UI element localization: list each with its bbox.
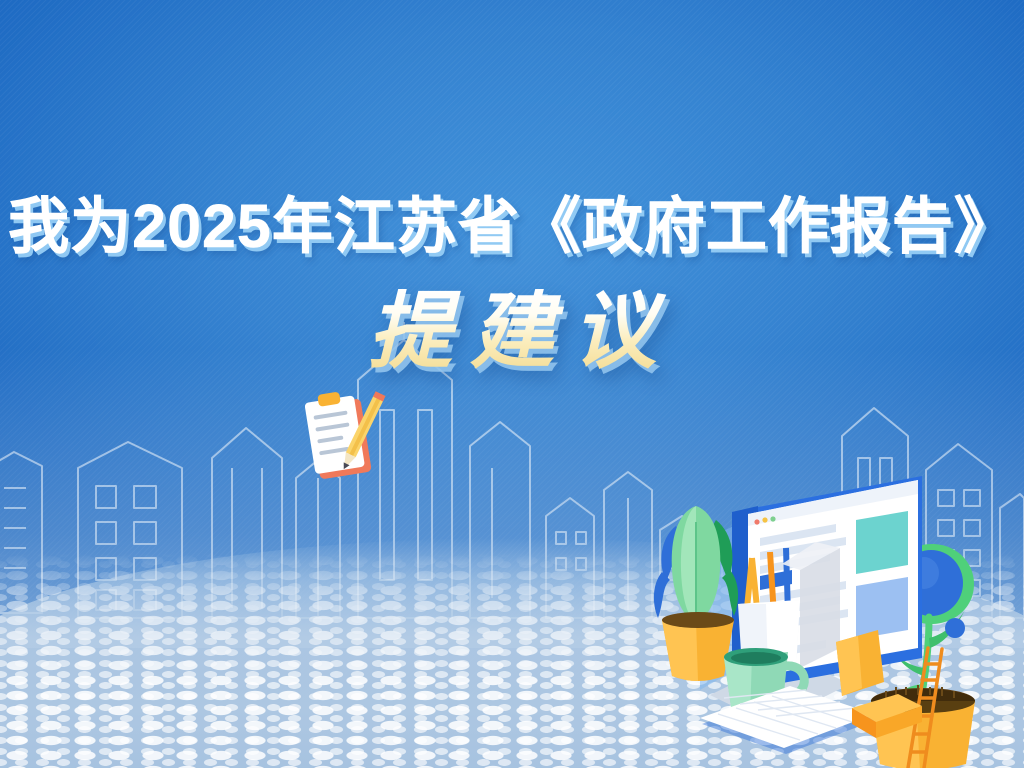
screen-image-blue bbox=[856, 577, 908, 639]
campaign-banner: 我为2025年江苏省《政府工作报告》 提建议 bbox=[0, 0, 1024, 768]
flower-bud bbox=[945, 618, 965, 638]
clipboard-pencil-icon bbox=[296, 385, 396, 487]
screen-image-teal bbox=[856, 511, 908, 574]
dot-green bbox=[770, 516, 775, 521]
plant-pot-left bbox=[662, 612, 734, 681]
banner-title-subtitle: 提建议 bbox=[350, 289, 674, 373]
banner-titles: 我为2025年江苏省《政府工作报告》 提建议 bbox=[0, 196, 1024, 373]
dot-yellow bbox=[762, 517, 767, 522]
banner-title-main: 我为2025年江苏省《政府工作报告》 bbox=[0, 196, 1024, 257]
desk-scene-illustration bbox=[640, 452, 1024, 768]
dot-red bbox=[754, 519, 759, 524]
